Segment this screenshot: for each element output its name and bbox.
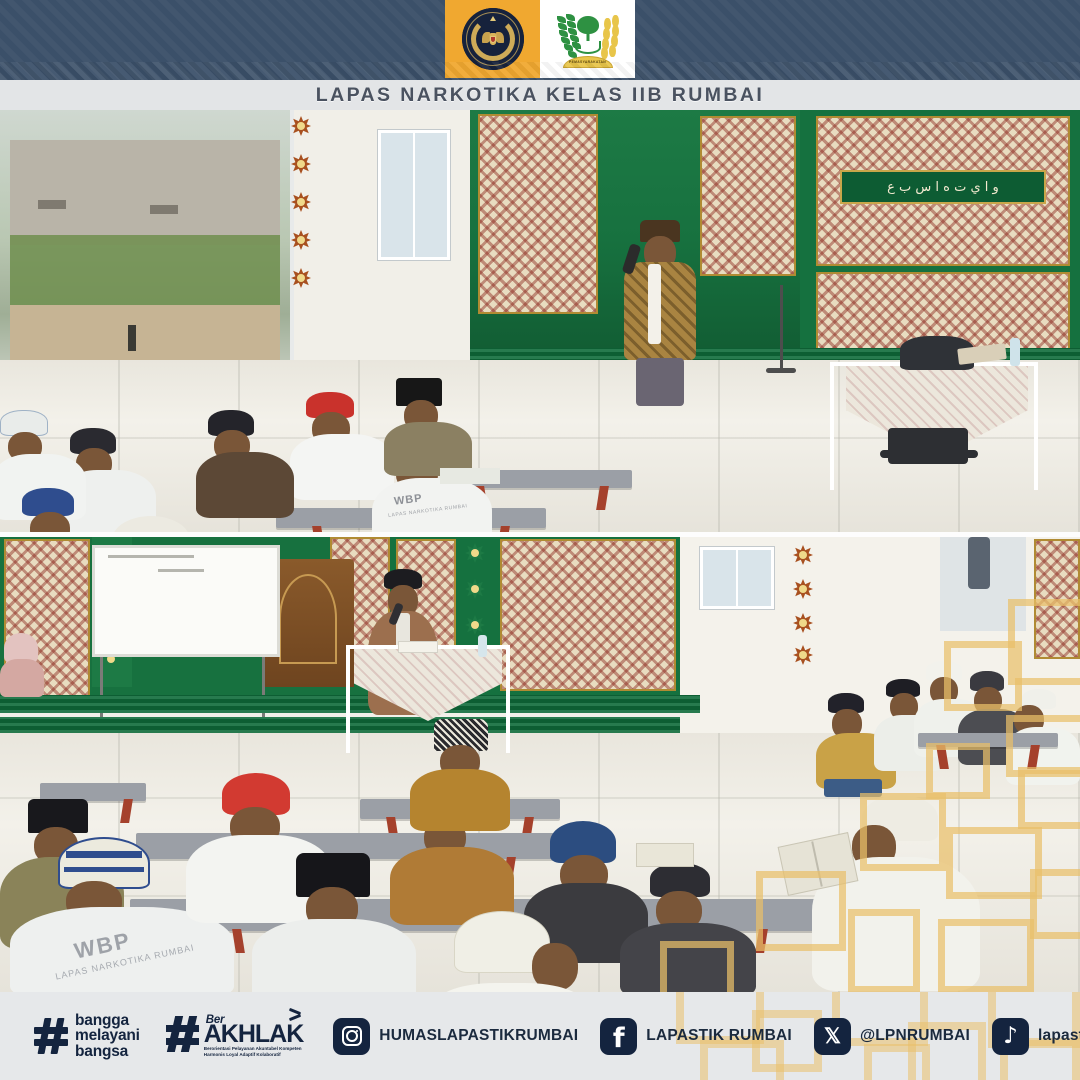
bmb-line3: bangsa xyxy=(75,1044,140,1059)
title-bar: LAPAS NARKOTIKA KELAS IIB RUMBAI xyxy=(0,80,1080,110)
tiktok-icon[interactable]: ♪ xyxy=(992,1018,1029,1055)
audience-member xyxy=(0,633,44,695)
header-band: PEMASYARAKATAN xyxy=(0,0,1080,80)
brown-shirt xyxy=(410,769,510,831)
instagram-handle[interactable]: HUMASLAPASTIKRUMBAI xyxy=(379,1027,578,1045)
x-twitter-handle[interactable]: @LPNRUMBAI xyxy=(860,1027,970,1045)
audience-member xyxy=(410,719,516,829)
quran-book xyxy=(440,468,500,484)
wbp-shirt xyxy=(372,478,492,532)
bangga-melayani-bangsa-logo: bangga melayani bangsa xyxy=(34,1013,140,1059)
garuda-icon xyxy=(482,29,504,49)
akhlak-label: AKHLAK xyxy=(204,1024,304,1045)
instagram-icon[interactable] xyxy=(333,1018,370,1055)
audience-member xyxy=(620,863,760,992)
wall-window xyxy=(378,130,450,260)
whiteboard xyxy=(92,545,280,657)
audience-member-reading xyxy=(796,795,986,991)
bangga-melayani-bangsa-text: bangga melayani bangsa xyxy=(75,1013,140,1059)
kemenkumham-emblem xyxy=(445,0,540,78)
photo-bottom-scene: WBP LAPAS NARKOTIKA RUMBAI xyxy=(0,537,1080,992)
low-bench xyxy=(918,733,1058,747)
audience-member xyxy=(196,410,300,518)
audience-member xyxy=(436,911,586,992)
white-kopiah xyxy=(112,516,190,532)
hashtag-icon xyxy=(166,1016,199,1052)
social-tiktok[interactable]: ♪ lapastikrumbai xyxy=(992,1018,1080,1055)
ber-akhlak-logo: Ber AKHLAK Berorientasi Pelayanan Akunta… xyxy=(166,1014,304,1059)
kemenkumham-seal-icon xyxy=(462,8,524,70)
audience-member xyxy=(92,516,230,532)
facebook-icon[interactable]: f xyxy=(600,1018,637,1055)
dark-shirt xyxy=(196,452,294,518)
speaker-standing xyxy=(612,220,706,400)
header-logo-strip: PEMASYARAKATAN xyxy=(445,0,635,78)
quran-book xyxy=(636,843,694,867)
photo-top-scene: و ا ي ت ه ا س ب ع xyxy=(0,110,1080,532)
hashtag-icon xyxy=(34,1018,68,1054)
pemasyarakatan-logo: PEMASYARAKATAN xyxy=(540,0,635,78)
prayer-carpet xyxy=(0,717,680,733)
bmb-line2: melayani xyxy=(75,1028,140,1043)
bmb-line1: bangga xyxy=(75,1013,140,1028)
audience-member xyxy=(384,378,476,474)
social-facebook[interactable]: f LAPASTIK RUMBAI xyxy=(600,1018,792,1055)
social-instagram[interactable]: HUMASLAPASTIKRUMBAI xyxy=(333,1018,578,1055)
wall-window xyxy=(700,547,774,609)
pemasyarakatan-icon: PEMASYARAKATAN xyxy=(555,8,621,70)
dark-shirt xyxy=(620,923,756,992)
photo-bottom: WBP LAPAS NARKOTIKA RUMBAI xyxy=(0,537,1080,992)
social-x-twitter[interactable]: 𝕏 @LPNRUMBAI xyxy=(814,1018,970,1055)
facebook-handle[interactable]: LAPASTIK RUMBAI xyxy=(646,1027,792,1045)
photo-top: و ا ي ت ه ا س ب ع xyxy=(0,110,1080,532)
tiktok-handle[interactable]: lapastikrumbai xyxy=(1038,1027,1080,1045)
footer: bangga melayani bangsa Ber AKHLAK Berori… xyxy=(0,992,1080,1080)
pemasyarakatan-ribbon-text: PEMASYARAKATAN xyxy=(569,60,606,64)
x-twitter-icon[interactable]: 𝕏 xyxy=(814,1018,851,1055)
white-shirt xyxy=(252,919,416,992)
page-title: LAPAS NARKOTIKA KELAS IIB RUMBAI xyxy=(316,84,764,107)
arabic-calligraphy: و ا ي ت ه ا س ب ع xyxy=(840,170,1046,204)
chevron-arrow-icon xyxy=(289,1010,305,1020)
akhlak-tagline-line2: Harmonis Loyal Adaptif Kolaboratif xyxy=(204,1052,304,1058)
